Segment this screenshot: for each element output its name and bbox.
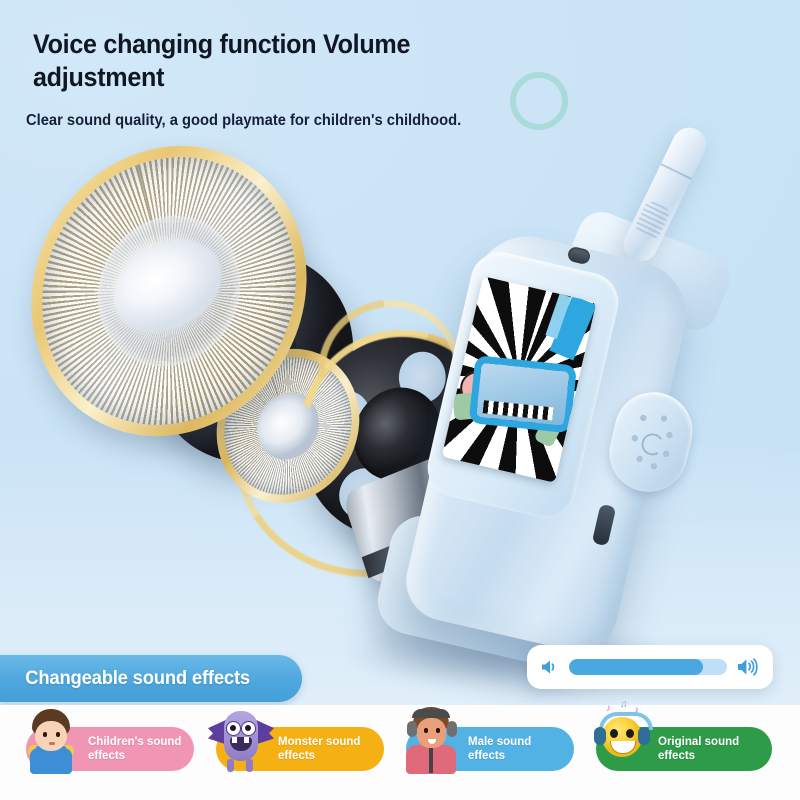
- sound-effect-chip-children[interactable]: Children's sound effects: [26, 727, 194, 771]
- smiley-headphones-avatar: ♪ ♫ ♪: [590, 701, 652, 773]
- monster-avatar: [210, 701, 272, 773]
- sound-effects-list: Children's sound effects Monster sound e…: [0, 705, 800, 800]
- antenna-knurl: [633, 199, 671, 241]
- man-headphones-avatar: [400, 701, 462, 773]
- antenna-ring: [660, 163, 691, 180]
- volume-slider-card[interactable]: [527, 645, 773, 689]
- sound-effect-chip-monster[interactable]: Monster sound effects: [216, 727, 384, 771]
- banner-label: Changeable sound effects: [0, 668, 250, 690]
- volume-fill: [569, 659, 703, 675]
- music-note-icon: ♫: [620, 699, 628, 710]
- volume-track[interactable]: [569, 659, 727, 675]
- sticker-gadget: [469, 355, 578, 433]
- changeable-sound-effects-banner: Changeable sound effects: [0, 655, 302, 702]
- speaker-high-icon[interactable]: [736, 657, 760, 677]
- sound-effect-chip-original[interactable]: ♪ ♫ ♪ Original sound effects: [596, 727, 772, 771]
- walkie-talkie-product: [300, 120, 800, 680]
- page-title: Voice changing function Volume adjustmen…: [33, 28, 517, 94]
- speaker-low-icon[interactable]: [540, 658, 560, 676]
- sound-effect-chip-male[interactable]: Male sound effects: [406, 727, 574, 771]
- product-feature-banner: Voice changing function Volume adjustmen…: [0, 0, 800, 800]
- child-avatar: [20, 701, 82, 773]
